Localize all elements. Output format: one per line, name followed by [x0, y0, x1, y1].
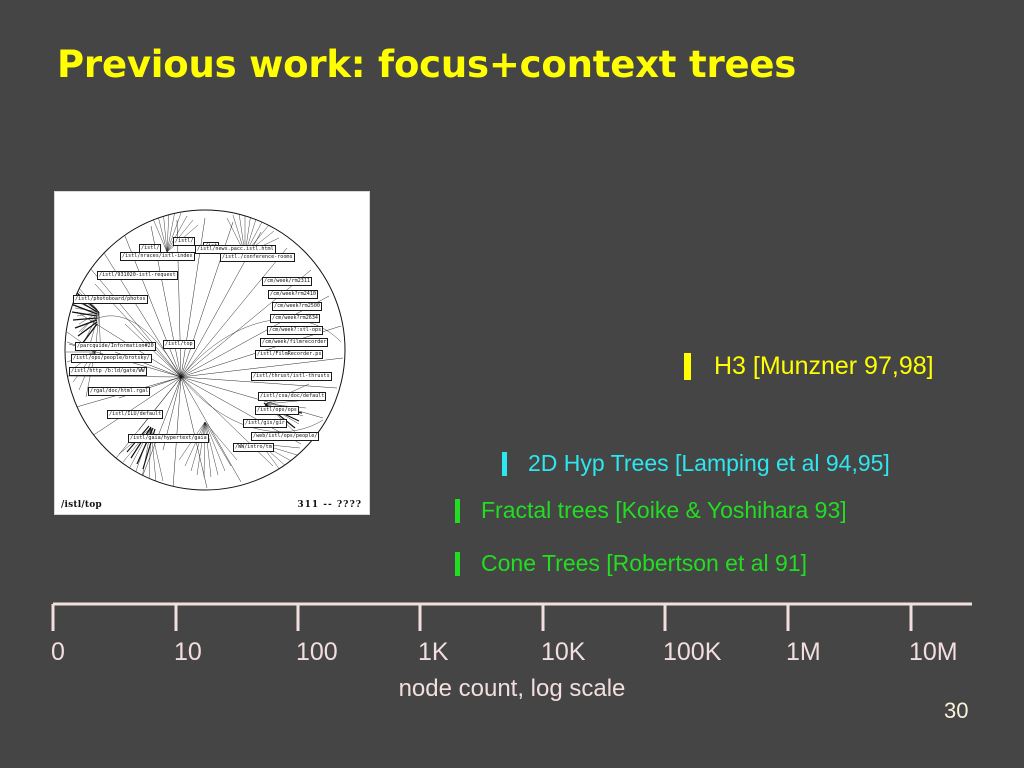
figure-caption-left: /istl/top [61, 500, 102, 510]
tree-node-label: /cm/week/filmrecorder [260, 338, 328, 347]
tick-bar-icon [502, 452, 507, 476]
tree-node-label: /istl/931020-istl-request [97, 271, 178, 280]
legend-label-h3: H3 [Munzner 97,98] [714, 352, 934, 381]
figure-caption-right: 311 -- ???? [297, 500, 362, 510]
tick-bar-icon [455, 552, 460, 576]
tree-node-label: /web/istl/ops/people/ [251, 432, 319, 441]
tick-bar-icon [684, 353, 691, 380]
tree-node-label: /parcquide/Information#20 [75, 342, 156, 351]
axis-tick-label: 1M [786, 638, 821, 667]
tree-node-label: /WW/intro/tm [233, 443, 274, 452]
tree-node-label: /rgal/doc/html.rgal [88, 387, 150, 396]
axis-tick-label: 100K [663, 638, 721, 667]
tree-node-label: /istl/csa/doc/default [258, 392, 326, 401]
figure-h3-drawing: /istl/ /istl/ /ist /istl/news.pacc.istl.… [55, 192, 369, 514]
page-number: 30 [944, 698, 968, 724]
axis-title: node count, log scale [0, 675, 1024, 703]
tree-node-label: /cm/week/rm2311 [262, 277, 312, 286]
legend-label-2d-hyp-trees: 2D Hyp Trees [Lamping et al 94,95] [528, 450, 890, 477]
tree-node-label: /istl/photoboard/photos [73, 295, 148, 304]
legend-item-h3: H3 [Munzner 97,98] [684, 352, 934, 381]
figure-h3-screenshot: /istl/ /istl/ /ist /istl/news.pacc.istl.… [54, 191, 370, 515]
axis-tick-label: 100 [296, 638, 338, 667]
legend-item-cone-trees: Cone Trees [Robertson et al 91] [455, 550, 807, 577]
tree-node-label: /cm/week?rm2500 [272, 302, 322, 311]
tree-node-label: /istl/gaia/hypertext/gaia [128, 434, 209, 443]
tree-node-label: /istl/ops/people/brotsky/ [71, 354, 152, 363]
slide-canvas: Previous work: focus+context trees [0, 0, 1024, 768]
tree-node-label: /cm/week?rm2410 [268, 290, 318, 299]
tree-node-label: /istl/http /b:ld/gate/WW [69, 367, 147, 376]
axis-tick-label: 1K [418, 638, 449, 667]
tree-node-label: /istl./conference-rooms [220, 253, 295, 262]
axis-tick-label: 10M [909, 638, 958, 667]
tick-bar-icon [455, 499, 460, 523]
tree-node-label: /istl/ [173, 237, 195, 246]
axis-tick-label: 10K [541, 638, 585, 667]
tree-node-label: /cm/week?rm2634 [270, 314, 320, 323]
tree-node-label: /istl/ILU/default [107, 410, 163, 419]
tree-node-label: /istl/ops/ops [255, 406, 299, 415]
axis-tick-label: 0 [51, 638, 65, 667]
axis-tick-label: 10 [174, 638, 202, 667]
legend-item-2d-hyp-trees: 2D Hyp Trees [Lamping et al 94,95] [502, 450, 890, 477]
tree-node-label: /istl/nraces/istl-index [120, 252, 195, 261]
page-title: Previous work: focus+context trees [57, 43, 796, 86]
tree-node-label: /istl/FilmRecorder.ps [255, 350, 323, 359]
tree-root-label: /istl/top [163, 340, 195, 349]
legend-item-fractal-trees: Fractal trees [Koike & Yoshihara 93] [455, 497, 847, 524]
tree-node-label: /istl/thrust/istl-thrusts [251, 372, 332, 381]
legend-label-fractal-trees: Fractal trees [Koike & Yoshihara 93] [481, 497, 847, 524]
tree-node-label: /istl/gis/gir [243, 419, 287, 428]
tree-node-label: /cm/week?:stl-ops [267, 326, 323, 335]
legend-label-cone-trees: Cone Trees [Robertson et al 91] [481, 550, 807, 577]
